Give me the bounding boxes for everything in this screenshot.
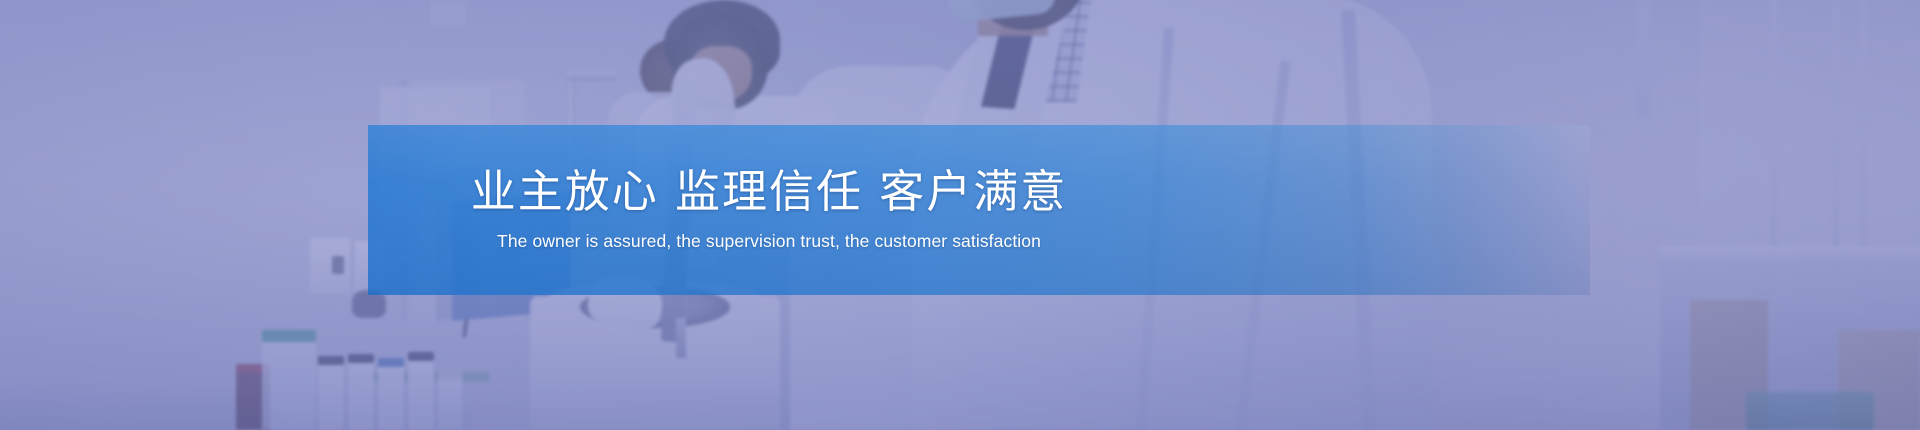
banner-subheadline: The owner is assured, the supervision tr… <box>497 230 1041 253</box>
banner-text-block: 业主放心 监理信任 客户满意 The owner is assured, the… <box>368 125 1590 295</box>
hero-banner: 业主放心 监理信任 客户满意 The owner is assured, the… <box>0 0 1920 430</box>
banner-headline: 业主放心 监理信任 客户满意 <box>471 167 1068 217</box>
